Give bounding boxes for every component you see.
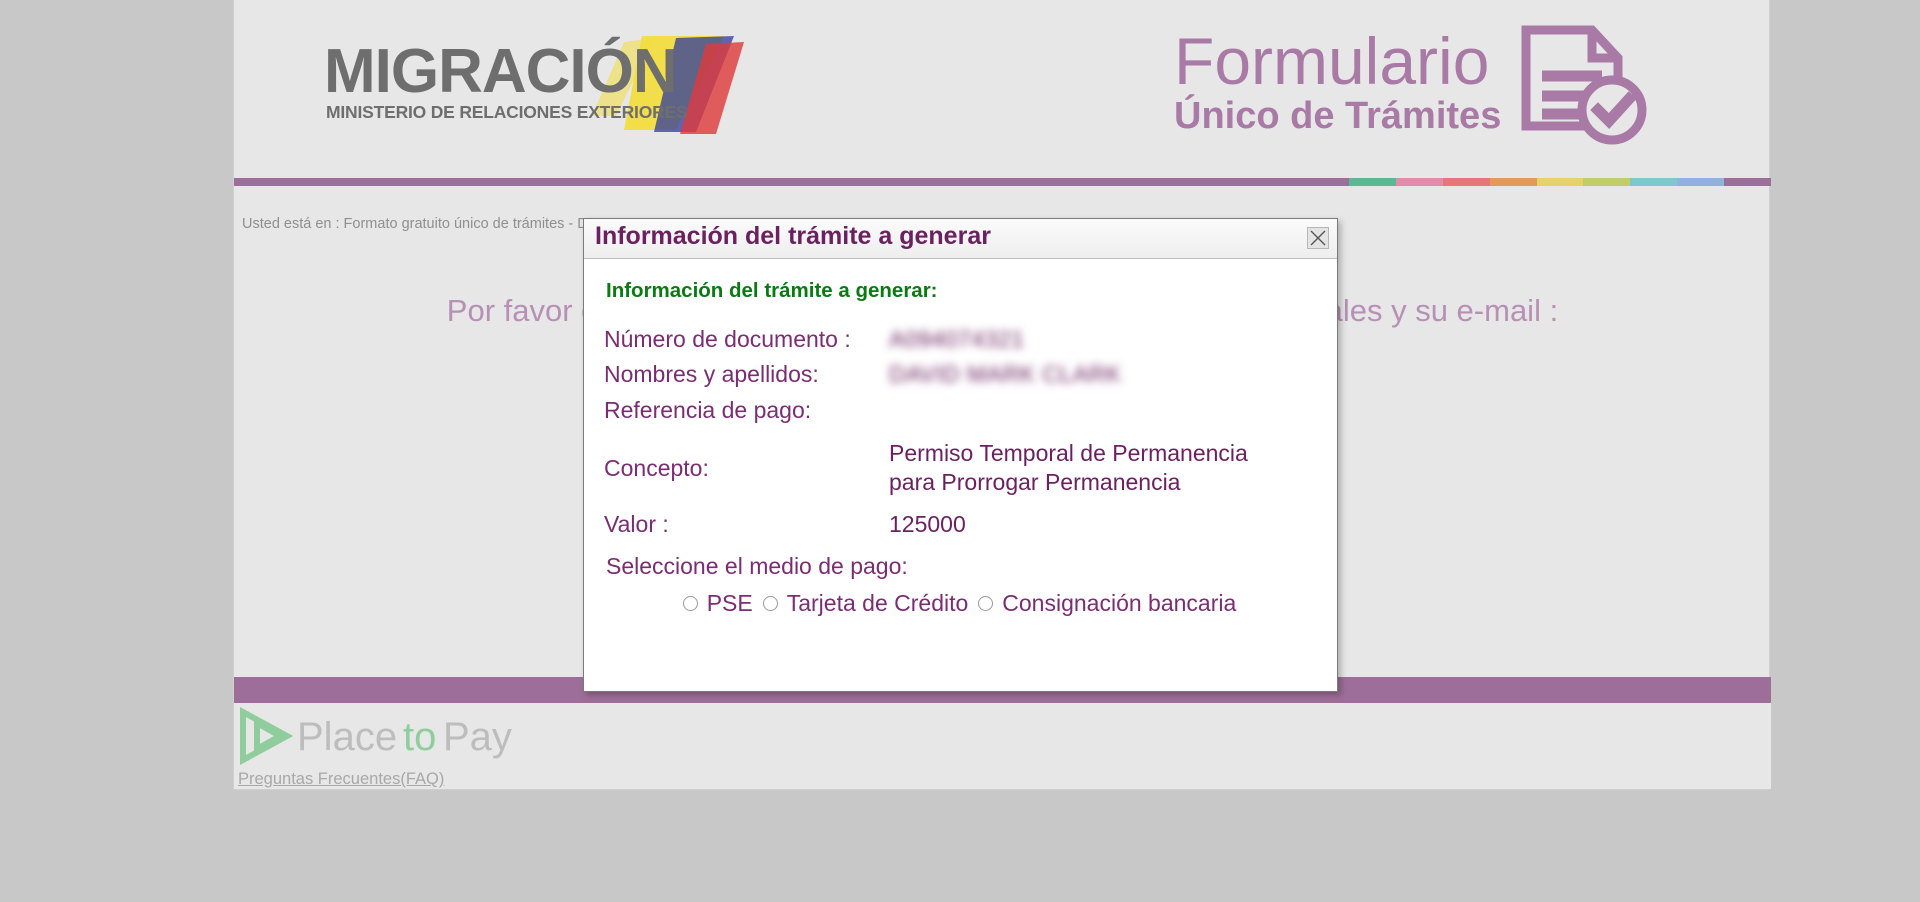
field-value: 125000 [889,510,966,539]
field-row-referencia: Referencia de pago: [604,396,1337,425]
document-check-icon [1526,30,1642,140]
color-segment-3 [1396,178,1443,186]
placetopay-logo-svg: Place to Pay [235,706,555,766]
field-label: Concepto: [604,454,889,483]
radio-option-consignacion-bancaria[interactable]: Consignación bancaria [978,590,1236,617]
placetopay-arrow-logo [243,712,287,760]
formulario-logo: Formulario Único de Trámites [1174,14,1684,149]
radio-button-icon[interactable] [683,596,698,611]
payment-method-label: Seleccione el medio de pago: [606,553,1337,580]
color-segment-10 [1724,178,1771,186]
placetopay-logo: Place to Pay [235,706,555,766]
radio-button-icon[interactable] [763,596,778,611]
radio-label: Tarjeta de Crédito [787,590,969,617]
radio-option-tarjeta-credito[interactable]: Tarjeta de Crédito [763,590,969,617]
payment-method-options: PSE Tarjeta de Crédito Consignación banc… [604,590,1315,617]
tramite-info-dialog: Información del trámite a generar Inform… [583,218,1338,692]
site-header: MIGRACIÓN MINISTERIO DE RELACIONES EXTER… [234,0,1769,182]
migracion-logo-subtitle: MINISTERIO DE RELACIONES EXTERIORES [326,102,688,122]
formulario-logo-svg: Formulario Único de Trámites [1174,14,1684,149]
formulario-logo-line2: Único de Trámites [1174,93,1501,137]
migracion-logo-wordmark: MIGRACIÓN [324,37,677,106]
radio-label: PSE [707,590,753,617]
field-label: Valor : [604,510,889,539]
color-segment-4 [1443,178,1490,186]
radio-button-icon[interactable] [978,596,993,611]
field-row-valor: Valor : 125000 [604,510,1337,539]
field-row-documento: Número de documento : A094074321 [604,325,1337,354]
placetopay-text-pay: Pay [443,715,512,759]
color-segment-5 [1490,178,1537,186]
migracion-logo-svg: MIGRACIÓN MINISTERIO DE RELACIONES EXTER… [324,30,824,135]
dialog-body: Información del trámite a generar: Númer… [584,259,1337,617]
placetopay-text-to: to [403,715,436,759]
field-label: Referencia de pago: [604,396,889,425]
field-value: Permiso Temporal de Permanencia para Pro… [889,439,1289,498]
color-segment-8 [1630,178,1677,186]
dialog-title: Información del trámite a generar [595,222,991,251]
field-value-redacted: A094074321 [889,325,1024,354]
field-label: Nombres y apellidos: [604,360,889,389]
color-segment-7 [1583,178,1630,186]
field-label: Número de documento : [604,325,889,354]
color-segment-1 [1302,178,1349,186]
color-segment-2 [1349,178,1396,186]
header-color-bar [1302,178,1771,186]
field-row-concepto: Concepto: Permiso Temporal de Permanenci… [604,439,1337,498]
migracion-logo: MIGRACIÓN MINISTERIO DE RELACIONES EXTER… [324,30,824,135]
formulario-logo-line1: Formulario [1174,24,1489,98]
field-row-nombres: Nombres y apellidos: DAVID MARK CLARK [604,360,1337,389]
dialog-titlebar: Información del trámite a generar [584,219,1337,259]
radio-option-pse[interactable]: PSE [683,590,753,617]
radio-label: Consignación bancaria [1002,590,1236,617]
faq-link[interactable]: Preguntas Frecuentes(FAQ) [238,770,444,789]
dialog-heading: Información del trámite a generar: [606,279,1337,303]
color-segment-6 [1537,178,1584,186]
color-segment-9 [1677,178,1724,186]
field-value-redacted: DAVID MARK CLARK [889,360,1122,389]
close-icon-svg [1310,230,1326,246]
placetopay-text-place: Place [297,715,397,759]
close-icon[interactable] [1307,227,1329,249]
